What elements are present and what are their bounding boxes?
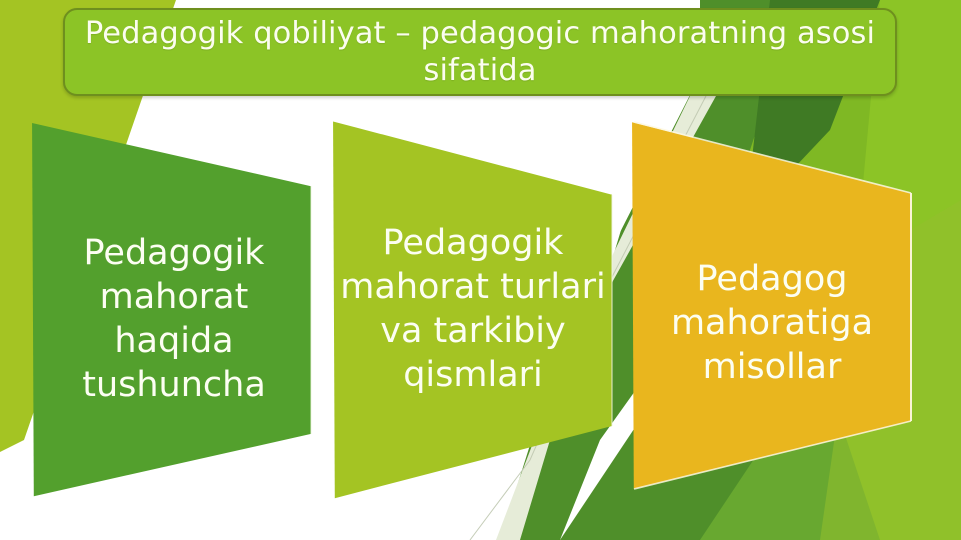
content-card-pedagogik-mahorat-haqida-tushuncha[interactable]: Pedagogik mahorat haqida tushuncha (28, 116, 318, 506)
slide-title-text: Pedagogik qobiliyat – pedagogic mahoratn… (65, 15, 895, 89)
slide-title-plate: Pedagogik qobiliyat – pedagogic mahoratn… (63, 8, 897, 96)
content-card-pedagogik-mahorat-turlari-va-tarkibiy-qismlari[interactable]: Pedagogik mahorat turlari va tarkibiy qi… (329, 116, 619, 506)
top-white-strip (176, 0, 700, 8)
content-card-label: Pedagogik mahorat haqida tushuncha (28, 231, 318, 407)
slide-canvas: Pedagogik qobiliyat – pedagogic mahoratn… (0, 0, 961, 540)
content-card-label: Pedagogik mahorat turlari va tarkibiy qi… (329, 221, 619, 397)
content-card-label: Pedagog mahoratiga misollar (628, 257, 918, 389)
content-card-pedagog-mahoratiga-misollar[interactable]: Pedagog mahoratiga misollar (628, 116, 918, 506)
